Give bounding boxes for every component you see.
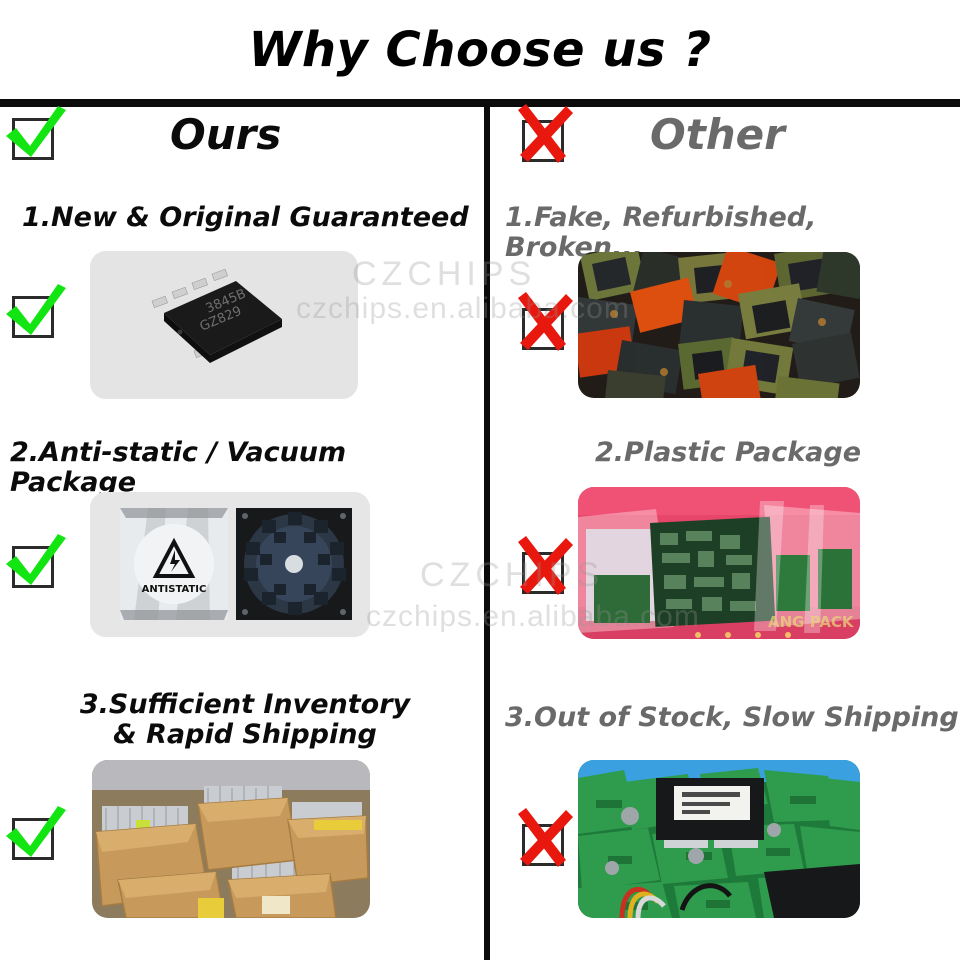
check-mark-icon (4, 534, 66, 596)
feature-text-other-3: 3.Out of Stock, Slow Shipping (505, 703, 960, 733)
header-divider-rule (0, 99, 960, 107)
svg-text:ANTISTATIC: ANTISTATIC (142, 584, 207, 595)
page-title: Why Choose us ? (0, 22, 960, 78)
feature-text-ours-2: 2.Anti-static / Vacuum Package (10, 438, 480, 498)
column-heading-ours: Ours (170, 110, 281, 159)
photo-scrap-boards (578, 760, 860, 918)
feature-text-ours-1: 1.New & Original Guaranteed (22, 203, 472, 233)
feature-text-ours-3: 3.Sufficient Inventory & Rapid Shipping (20, 690, 470, 750)
photo-original-chip: 3845B GZ829 (90, 251, 358, 399)
why-choose-us-banner: Why Choose us ? Ours Other (0, 0, 960, 960)
photo-inventory-boxes (92, 760, 370, 918)
check-mark-icon (4, 284, 66, 346)
column-heading-other: Other (650, 110, 785, 159)
photo-scrap-chips (578, 252, 860, 398)
check-mark-icon (4, 106, 66, 168)
photo-antistatic-package: ANTISTATIC (90, 492, 370, 637)
column-divider-rule (484, 107, 490, 960)
photo-plastic-package: ANG PACK (578, 487, 860, 639)
svg-text:ANG PACK: ANG PACK (768, 613, 855, 631)
cross-mark-icon (514, 108, 576, 170)
cross-mark-icon (514, 812, 576, 874)
cross-mark-icon (514, 540, 576, 602)
feature-text-other-2: 2.Plastic Package (595, 438, 955, 468)
check-mark-icon (4, 806, 66, 868)
cross-mark-icon (514, 296, 576, 358)
